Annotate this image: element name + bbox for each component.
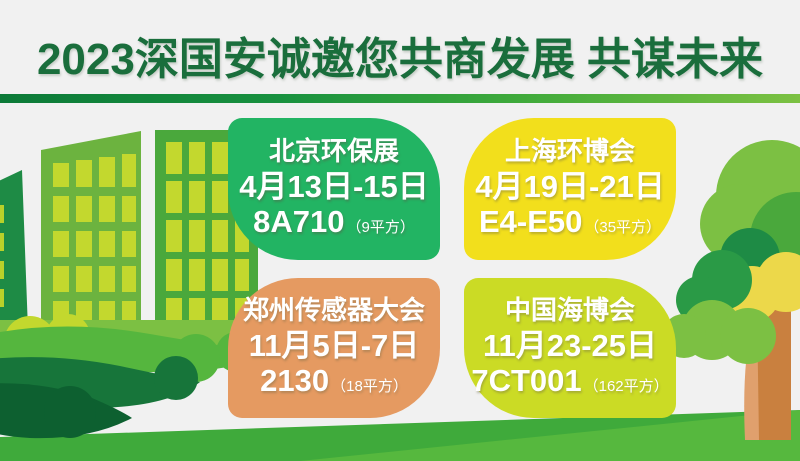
exhibition-card-zhengzhou[interactable]: 郑州传感器大会 11月5日-7日 2130 （18平方） bbox=[228, 278, 440, 418]
card-booth-row: 7CT001 （162平方） bbox=[471, 364, 668, 397]
building-dark-left bbox=[0, 170, 28, 330]
green-divider-bar bbox=[0, 94, 800, 103]
card-title: 中国海博会 bbox=[505, 296, 635, 324]
card-date: 4月19日-21日 bbox=[475, 170, 665, 203]
card-booth: 8A710 bbox=[253, 205, 344, 238]
exhibition-banner: 2023深国安诚邀您共商发展 共谋未来 北京环保展 4月13日-15日 8A71… bbox=[0, 0, 800, 461]
card-booth-row: E4-E50 （35平方） bbox=[479, 205, 661, 238]
banner-title-wrap: 2023深国安诚邀您共商发展 共谋未来 bbox=[0, 22, 800, 88]
card-date: 4月13日-15日 bbox=[239, 170, 429, 203]
exhibition-card-shanghai[interactable]: 上海环博会 4月19日-21日 E4-E50 （35平方） bbox=[464, 118, 676, 260]
card-area: （18平方） bbox=[331, 379, 408, 395]
window bbox=[0, 261, 4, 279]
card-area: （35平方） bbox=[584, 220, 661, 236]
exhibition-card-grid: 北京环保展 4月13日-15日 8A710 （9平方） 上海环博会 4月19日-… bbox=[228, 118, 688, 418]
card-area: （9平方） bbox=[347, 220, 415, 236]
card-area: （162平方） bbox=[584, 379, 669, 395]
card-booth-row: 8A710 （9平方） bbox=[253, 205, 415, 238]
card-date: 11月23-25日 bbox=[483, 329, 657, 362]
card-title: 郑州传感器大会 bbox=[243, 296, 425, 324]
window bbox=[0, 289, 4, 307]
window bbox=[0, 205, 4, 223]
window bbox=[0, 233, 4, 251]
exhibition-card-haibohui[interactable]: 中国海博会 11月23-25日 7CT001 （162平方） bbox=[464, 278, 676, 418]
card-booth-row: 2130 （18平方） bbox=[260, 364, 408, 397]
page-title: 2023深国安诚邀您共商发展 共谋未来 bbox=[37, 23, 763, 87]
card-booth: E4-E50 bbox=[479, 205, 582, 238]
card-title: 北京环保展 bbox=[269, 137, 399, 165]
exhibition-card-beijing[interactable]: 北京环保展 4月13日-15日 8A710 （9平方） bbox=[228, 118, 440, 260]
card-title: 上海环博会 bbox=[505, 137, 635, 165]
card-booth: 2130 bbox=[260, 364, 329, 397]
card-booth: 7CT001 bbox=[471, 364, 581, 397]
card-date: 11月5日-7日 bbox=[249, 329, 420, 362]
